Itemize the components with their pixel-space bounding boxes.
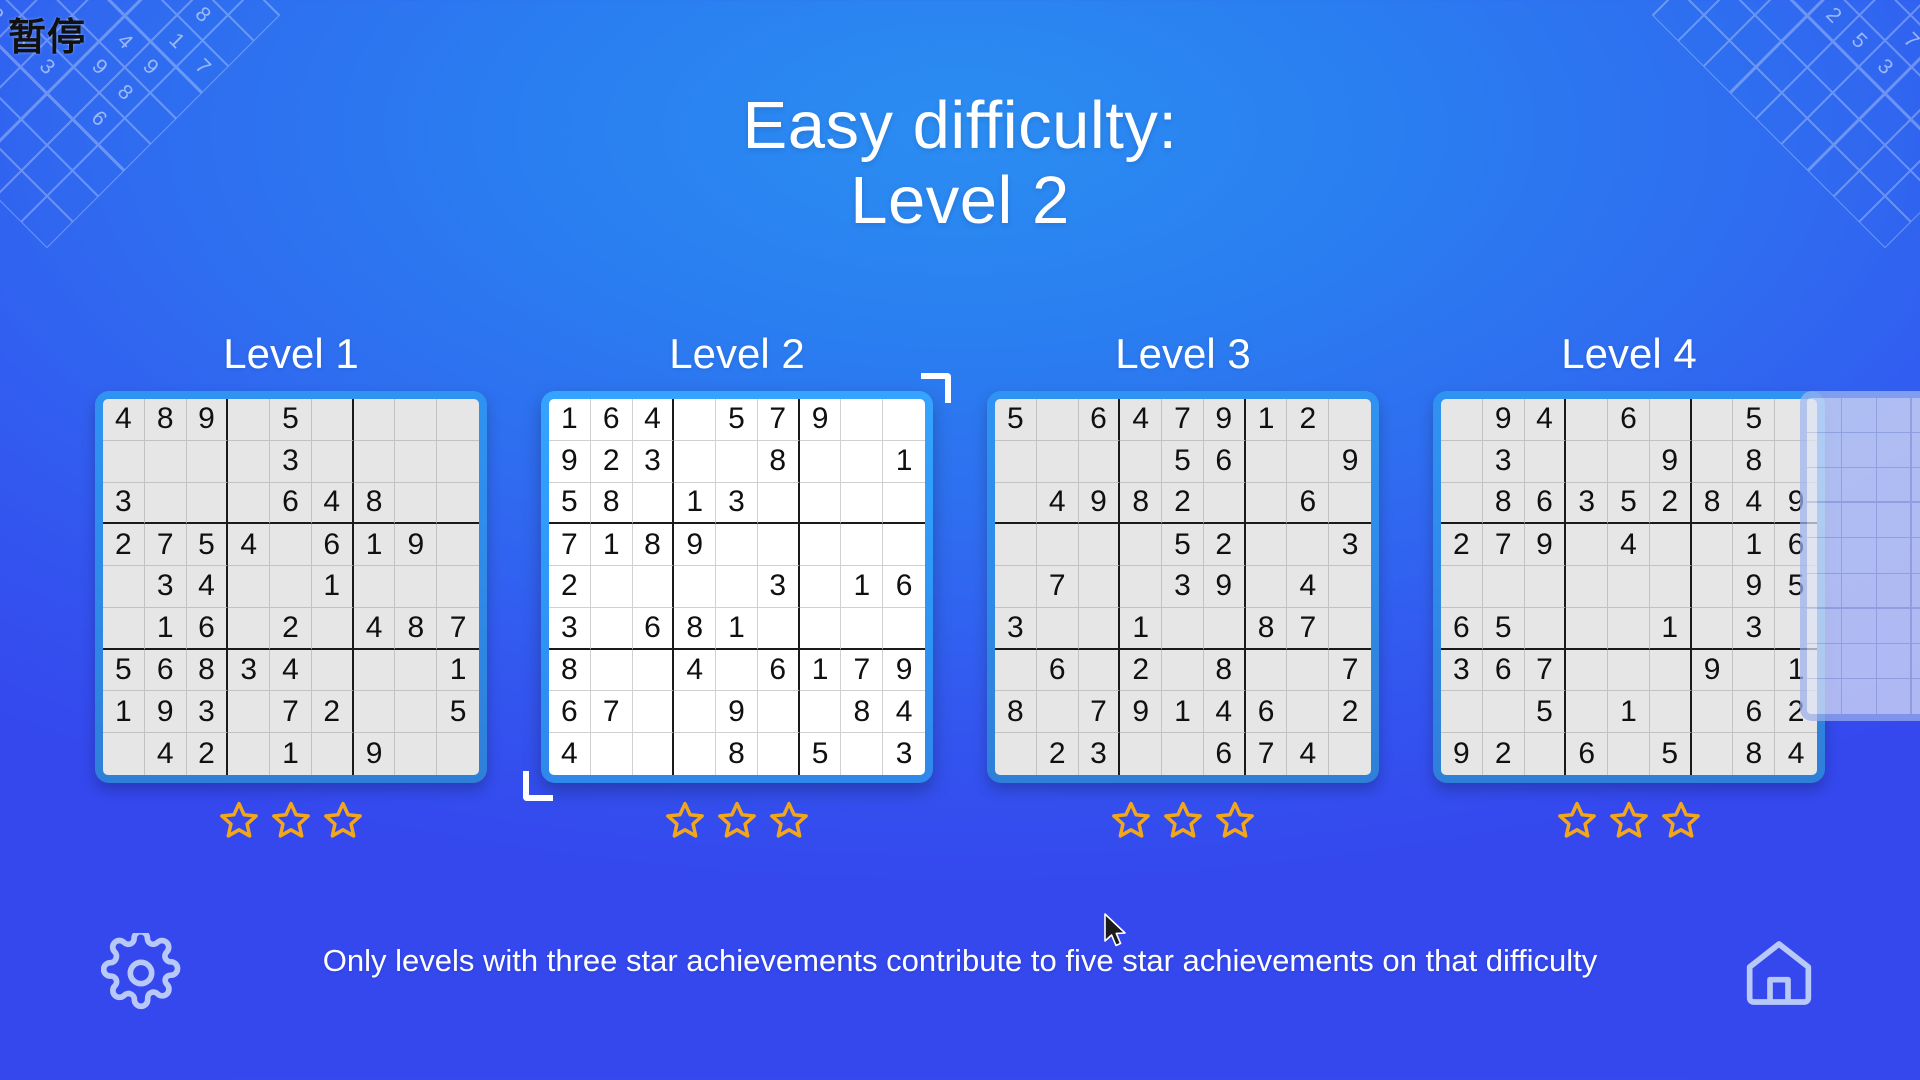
sudoku-cell	[1912, 398, 1920, 433]
sudoku-cell: 3	[103, 483, 145, 525]
sudoku-cell	[1912, 574, 1920, 609]
sudoku-cell	[1525, 608, 1567, 650]
sudoku-cell	[1037, 441, 1079, 483]
level-board-wrapper[interactable]: 1645799238158137189231636818461796798448…	[541, 391, 933, 783]
sudoku-cell: 4	[228, 524, 270, 566]
decorative-cell	[1755, 41, 1807, 93]
sudoku-cell	[1608, 650, 1650, 692]
sudoku-cell: 9	[395, 524, 437, 566]
sudoku-cell: 1	[1162, 691, 1204, 733]
sudoku-cell	[841, 441, 883, 483]
sudoku-cell	[1329, 399, 1371, 441]
sudoku-cell: 7	[1483, 524, 1525, 566]
sudoku-cell	[437, 441, 479, 483]
sudoku-cell: 2	[1441, 524, 1483, 566]
sudoku-cell: 2	[1483, 733, 1525, 775]
sudoku-cell	[1842, 433, 1877, 468]
sudoku-cell: 7	[1079, 691, 1121, 733]
sudoku-cell	[758, 608, 800, 650]
sudoku-cell: 6	[1287, 483, 1329, 525]
sudoku-cell	[674, 733, 716, 775]
sudoku-cell	[1287, 650, 1329, 692]
sudoku-cell	[395, 691, 437, 733]
sudoku-cell: 6	[758, 650, 800, 692]
sudoku-cell: 9	[1441, 733, 1483, 775]
sudoku-cell: 5	[549, 483, 591, 525]
sudoku-cell: 5	[103, 650, 145, 692]
sudoku-cell: 5	[1733, 399, 1775, 441]
sudoku-cell: 7	[1525, 650, 1567, 692]
level-board-wrapper[interactable]: 9465398863528492794169565133679151629265…	[1433, 391, 1825, 783]
sudoku-cell: 2	[312, 691, 354, 733]
decorative-cell: 4	[99, 15, 151, 67]
sudoku-cell: 8	[674, 608, 716, 650]
level-card-4[interactable]: Level 4946539886352849279416956513367915…	[1433, 330, 1825, 841]
sudoku-cell	[1037, 608, 1079, 650]
decorative-cell	[1833, 0, 1885, 15]
sudoku-cell: 8	[1733, 441, 1775, 483]
sudoku-cell: 1	[1246, 399, 1288, 441]
sudoku-cell	[1483, 566, 1525, 608]
sudoku-cell: 9	[354, 733, 396, 775]
level-card-3[interactable]: Level 3564791256949826523739431876287879…	[987, 330, 1379, 841]
sudoku-cell	[1912, 609, 1920, 644]
sudoku-cell	[187, 441, 229, 483]
level-list: Level 1489533648275461934116248756834119…	[0, 330, 1920, 841]
decorative-cell: 9	[1911, 41, 1920, 93]
decorative-cell	[1859, 0, 1911, 41]
sudoku-cell: 5	[270, 399, 312, 441]
home-button[interactable]	[1736, 930, 1822, 1016]
sudoku-cell: 7	[1162, 399, 1204, 441]
sudoku-cell	[1692, 608, 1734, 650]
sudoku-cell	[758, 524, 800, 566]
sudoku-cell	[674, 441, 716, 483]
sudoku-cell	[800, 691, 842, 733]
sudoku-cell: 9	[1204, 566, 1246, 608]
sudoku-cell: 3	[995, 608, 1037, 650]
sudoku-cell: 2	[1287, 399, 1329, 441]
sudoku-cell: 7	[1287, 608, 1329, 650]
sudoku-cell	[1204, 483, 1246, 525]
sudoku-cell: 6	[1566, 733, 1608, 775]
sudoku-cell	[1287, 441, 1329, 483]
sudoku-cell: 7	[841, 650, 883, 692]
page-title: Easy difficulty: Level 2	[0, 88, 1920, 238]
sudoku-cell: 3	[716, 483, 758, 525]
sudoku-cell: 5	[1483, 608, 1525, 650]
sudoku-cell	[1692, 691, 1734, 733]
sudoku-grid: 1645799238158137189231636818461796798448…	[549, 399, 925, 775]
sudoku-cell	[633, 483, 675, 525]
sudoku-cell: 5	[1608, 483, 1650, 525]
sudoku-cell: 9	[883, 650, 925, 692]
page-title-level: Level 2	[0, 163, 1920, 238]
sudoku-cell	[1246, 483, 1288, 525]
decorative-cell: 4	[151, 0, 203, 15]
sudoku-cell: 9	[1483, 399, 1525, 441]
sudoku-cell	[270, 566, 312, 608]
sudoku-cell: 5	[1162, 441, 1204, 483]
sudoku-cell	[633, 650, 675, 692]
sudoku-cell: 4	[549, 733, 591, 775]
sudoku-cell: 4	[187, 566, 229, 608]
sudoku-cell	[145, 441, 187, 483]
sudoku-cell	[1566, 399, 1608, 441]
decorative-cell: 6	[1729, 0, 1781, 15]
sudoku-cell: 6	[1246, 691, 1288, 733]
star-icon	[218, 799, 260, 841]
sudoku-cell: 8	[354, 483, 396, 525]
sudoku-grid: 5647912569498265237394318762878791462236…	[995, 399, 1371, 775]
sudoku-cell	[1162, 733, 1204, 775]
sudoku-cell	[883, 608, 925, 650]
sudoku-cell	[1608, 441, 1650, 483]
level-board-wrapper[interactable]: 5647912569498265237394318762878791462236…	[987, 391, 1379, 783]
sudoku-grid-preview: 152984678837	[1807, 398, 1920, 714]
sudoku-cell	[1912, 468, 1920, 503]
sudoku-cell: 7	[145, 524, 187, 566]
sudoku-cell: 3	[270, 441, 312, 483]
sudoku-cell	[1441, 566, 1483, 608]
sudoku-cell: 1	[1120, 608, 1162, 650]
sudoku-cell	[1441, 399, 1483, 441]
decorative-cell	[1678, 15, 1730, 67]
sudoku-cell	[1877, 398, 1912, 433]
sudoku-cell: 6	[549, 691, 591, 733]
sudoku-cell: 6	[1525, 483, 1567, 525]
sudoku-cell	[1842, 538, 1877, 573]
sudoku-cell	[312, 399, 354, 441]
sudoku-cell: 4	[1525, 399, 1567, 441]
sudoku-cell	[1329, 608, 1371, 650]
sudoku-cell: 9	[1120, 691, 1162, 733]
star-icon	[768, 799, 810, 841]
sudoku-cell: 8	[1120, 483, 1162, 525]
sudoku-cell: 8	[633, 524, 675, 566]
sudoku-cell: 9	[1650, 441, 1692, 483]
sudoku-cell: 4	[1037, 483, 1079, 525]
sudoku-cell: 6	[1483, 650, 1525, 692]
sudoku-cell: 3	[145, 566, 187, 608]
sudoku-cell: 3	[1329, 524, 1371, 566]
sudoku-cell: 2	[1329, 691, 1371, 733]
settings-button[interactable]	[98, 930, 184, 1016]
sudoku-cell	[228, 441, 270, 483]
sudoku-cell: 6	[1204, 441, 1246, 483]
sudoku-cell	[1692, 399, 1734, 441]
sudoku-cell	[758, 483, 800, 525]
sudoku-cell: 6	[633, 608, 675, 650]
sudoku-cell	[995, 733, 1037, 775]
sudoku-cell: 8	[995, 691, 1037, 733]
sudoku-cell: 9	[145, 691, 187, 733]
sudoku-cell	[1287, 524, 1329, 566]
sudoku-grid: 4895336482754619341162487568341193725421…	[103, 399, 479, 775]
sudoku-grid: 9465398863528492794169565133679151629265…	[1441, 399, 1817, 775]
decorative-cell: 2	[1807, 0, 1859, 41]
sudoku-cell	[354, 650, 396, 692]
decorative-cell	[1704, 41, 1756, 93]
sudoku-cell	[1807, 503, 1842, 538]
sudoku-cell: 9	[800, 399, 842, 441]
sudoku-cell: 8	[1692, 483, 1734, 525]
sudoku-cell: 8	[395, 608, 437, 650]
sudoku-cell	[1842, 574, 1877, 609]
sudoku-cell: 4	[674, 650, 716, 692]
star-icon	[664, 799, 706, 841]
sudoku-cell	[758, 733, 800, 775]
sudoku-cell: 1	[716, 608, 758, 650]
sudoku-cell: 4	[103, 399, 145, 441]
sudoku-cell	[1204, 608, 1246, 650]
sudoku-cell	[591, 733, 633, 775]
sudoku-cell: 2	[549, 566, 591, 608]
sudoku-cell	[591, 650, 633, 692]
sudoku-cell: 1	[883, 441, 925, 483]
sudoku-cell: 5	[800, 733, 842, 775]
level-board[interactable]: 4895336482754619341162487568341193725421…	[95, 391, 487, 783]
level-board[interactable]: 1645799238158137189231636818461796798448…	[541, 391, 933, 783]
sudoku-cell: 9	[716, 691, 758, 733]
sudoku-cell: 6	[312, 524, 354, 566]
sudoku-cell	[354, 566, 396, 608]
sudoku-cell	[1483, 691, 1525, 733]
sudoku-cell	[800, 441, 842, 483]
level-card-title: Level 2	[669, 330, 804, 378]
sudoku-cell	[841, 524, 883, 566]
sudoku-cell: 1	[103, 691, 145, 733]
sudoku-cell: 8	[1204, 650, 1246, 692]
sudoku-cell	[1246, 524, 1288, 566]
sudoku-cell	[1329, 483, 1371, 525]
sudoku-cell: 5	[187, 524, 229, 566]
sudoku-cell	[1650, 691, 1692, 733]
sudoku-cell	[395, 441, 437, 483]
star-icon	[322, 799, 364, 841]
decorative-cell: 6	[1885, 0, 1920, 15]
sudoku-cell	[1807, 398, 1842, 433]
sudoku-cell: 6	[270, 483, 312, 525]
sudoku-cell	[1246, 441, 1288, 483]
level-board[interactable]: 9465398863528492794169565133679151629265…	[1433, 391, 1825, 783]
star-rating	[1110, 799, 1256, 841]
sudoku-cell	[883, 524, 925, 566]
sudoku-cell	[312, 650, 354, 692]
sudoku-cell	[1525, 566, 1567, 608]
sudoku-cell	[1079, 566, 1121, 608]
sudoku-cell	[995, 524, 1037, 566]
sudoku-cell	[1287, 691, 1329, 733]
level-card-peek[interactable]: el 5 152984678837	[1800, 330, 1920, 767]
sudoku-cell	[995, 483, 1037, 525]
sudoku-cell: 8	[591, 483, 633, 525]
sudoku-cell	[800, 566, 842, 608]
sudoku-cell	[1079, 441, 1121, 483]
sudoku-cell	[103, 608, 145, 650]
sudoku-cell	[437, 733, 479, 775]
decorative-cell	[1911, 0, 1920, 41]
sudoku-cell: 5	[437, 691, 479, 733]
sudoku-cell: 8	[187, 650, 229, 692]
sudoku-cell	[591, 566, 633, 608]
sudoku-cell	[312, 441, 354, 483]
sudoku-cell: 9	[1079, 483, 1121, 525]
sudoku-cell: 2	[1162, 483, 1204, 525]
sudoku-cell	[1525, 441, 1567, 483]
sudoku-cell: 2	[1204, 524, 1246, 566]
sudoku-cell	[1079, 650, 1121, 692]
sudoku-cell: 1	[841, 566, 883, 608]
sudoku-cell	[995, 566, 1037, 608]
sudoku-cell	[437, 524, 479, 566]
sudoku-cell	[1441, 483, 1483, 525]
sudoku-cell: 5	[1650, 733, 1692, 775]
level-card-2[interactable]: Level 2164579923815813718923163681846179…	[541, 330, 933, 841]
footer-hint-text: Only levels with three star achievements…	[290, 940, 1630, 982]
sudoku-cell: 4	[270, 650, 312, 692]
sudoku-cell: 1	[800, 650, 842, 692]
sudoku-cell	[1162, 608, 1204, 650]
sudoku-cell	[841, 483, 883, 525]
gear-icon	[101, 933, 181, 1013]
sudoku-cell: 6	[1079, 399, 1121, 441]
sudoku-cell	[1566, 524, 1608, 566]
decorative-cell	[1678, 0, 1730, 15]
star-icon	[1162, 799, 1204, 841]
sudoku-cell	[1566, 608, 1608, 650]
sudoku-cell	[716, 441, 758, 483]
sudoku-cell	[354, 691, 396, 733]
sudoku-cell	[1807, 644, 1842, 679]
sudoku-cell	[1246, 566, 1288, 608]
sudoku-cell: 2	[1650, 483, 1692, 525]
sudoku-cell	[228, 399, 270, 441]
sudoku-cell: 8	[145, 399, 187, 441]
sudoku-cell	[1329, 566, 1371, 608]
sudoku-cell: 2	[187, 733, 229, 775]
sudoku-cell	[1037, 524, 1079, 566]
sudoku-cell	[228, 691, 270, 733]
sudoku-cell: 9	[1329, 441, 1371, 483]
sudoku-cell: 2	[591, 441, 633, 483]
sudoku-cell: 4	[1733, 483, 1775, 525]
star-rating	[1556, 799, 1702, 841]
level-board-wrapper[interactable]: 4895336482754619341162487568341193725421…	[95, 391, 487, 783]
sudoku-cell: 2	[103, 524, 145, 566]
sudoku-cell	[1079, 524, 1121, 566]
sudoku-cell: 6	[1204, 733, 1246, 775]
star-icon	[1608, 799, 1650, 841]
sudoku-cell: 8	[1733, 733, 1775, 775]
decorative-cell	[1652, 0, 1704, 41]
sudoku-cell: 9	[549, 441, 591, 483]
level-card-title: Level 4	[1561, 330, 1696, 378]
level-card-title: Level 3	[1115, 330, 1250, 378]
sudoku-cell	[1807, 468, 1842, 503]
decorative-cell: 7	[177, 41, 229, 93]
sudoku-cell	[1120, 733, 1162, 775]
sudoku-cell	[591, 608, 633, 650]
sudoku-cell	[1807, 574, 1842, 609]
sudoku-cell	[1692, 441, 1734, 483]
sudoku-cell	[633, 691, 675, 733]
star-rating	[664, 799, 810, 841]
sudoku-cell	[1566, 441, 1608, 483]
sudoku-cell	[1329, 733, 1371, 775]
sudoku-cell	[1566, 691, 1608, 733]
sudoku-cell	[1733, 650, 1775, 692]
decorative-cell: 1	[151, 15, 203, 67]
sudoku-cell: 7	[1329, 650, 1371, 692]
sudoku-cell	[1807, 609, 1842, 644]
sudoku-cell	[1912, 503, 1920, 538]
sudoku-cell: 9	[187, 399, 229, 441]
sudoku-cell	[633, 733, 675, 775]
sudoku-cell	[1877, 644, 1912, 679]
sudoku-cell: 4	[1608, 524, 1650, 566]
sudoku-cell	[1692, 524, 1734, 566]
sudoku-cell	[1650, 650, 1692, 692]
sudoku-cell: 4	[883, 691, 925, 733]
sudoku-cell: 9	[1733, 566, 1775, 608]
sudoku-cell	[354, 441, 396, 483]
sudoku-cell	[995, 441, 1037, 483]
sudoku-cell: 9	[1692, 650, 1734, 692]
sudoku-cell	[1566, 566, 1608, 608]
sudoku-cell: 4	[145, 733, 187, 775]
sudoku-cell	[674, 691, 716, 733]
sudoku-cell: 8	[549, 650, 591, 692]
sudoku-cell	[1912, 538, 1920, 573]
sudoku-cell	[1842, 398, 1877, 433]
sudoku-cell: 8	[716, 733, 758, 775]
sudoku-cell	[841, 399, 883, 441]
sudoku-cell	[437, 399, 479, 441]
sudoku-cell	[1162, 650, 1204, 692]
level-card-1[interactable]: Level 1489533648275461934116248756834119…	[95, 330, 487, 841]
decorative-cell	[1781, 15, 1833, 67]
sudoku-cell: 6	[591, 399, 633, 441]
sudoku-cell: 6	[1608, 399, 1650, 441]
level-board[interactable]: 5647912569498265237394318762878791462236…	[987, 391, 1379, 783]
level-card-title: Level 1	[223, 330, 358, 378]
sudoku-cell	[1441, 441, 1483, 483]
sudoku-cell	[1692, 733, 1734, 775]
sudoku-cell: 9	[674, 524, 716, 566]
sudoku-cell	[1807, 538, 1842, 573]
sudoku-cell	[1037, 691, 1079, 733]
sudoku-cell	[1120, 441, 1162, 483]
level-card-peek-board[interactable]: 152984678837	[1800, 391, 1920, 721]
sudoku-cell: 3	[758, 566, 800, 608]
sudoku-cell: 4	[1287, 733, 1329, 775]
sudoku-cell: 4	[1120, 399, 1162, 441]
sudoku-cell	[1842, 468, 1877, 503]
sudoku-cell	[1608, 566, 1650, 608]
sudoku-cell	[395, 733, 437, 775]
sudoku-cell: 3	[1483, 441, 1525, 483]
sudoku-cell: 6	[1733, 691, 1775, 733]
sudoku-cell: 4	[354, 608, 396, 650]
decorative-cell	[228, 0, 280, 41]
star-icon	[716, 799, 758, 841]
sudoku-cell	[312, 608, 354, 650]
sudoku-cell: 3	[187, 691, 229, 733]
sudoku-cell: 3	[1162, 566, 1204, 608]
sudoku-cell	[1037, 399, 1079, 441]
star-icon	[270, 799, 312, 841]
